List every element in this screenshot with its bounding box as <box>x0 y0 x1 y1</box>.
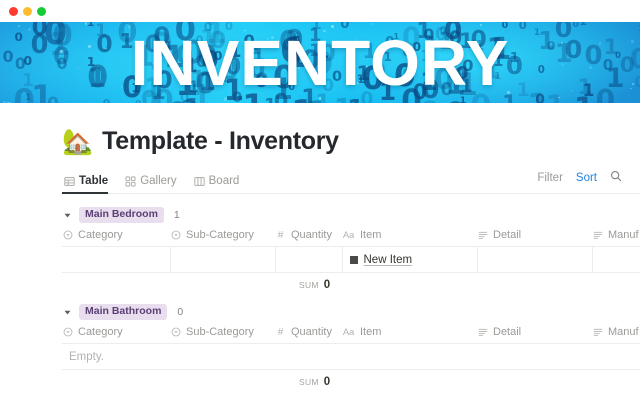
group-list: Main Bedroom 1 CategorySub-Category#Quan… <box>62 207 640 388</box>
column-header-sub-category[interactable]: Sub-Category <box>170 229 275 247</box>
multiline-text-icon <box>477 327 488 337</box>
cell-quantity[interactable] <box>275 247 342 273</box>
empty-label: Empty. <box>62 344 640 370</box>
cell-category[interactable] <box>62 247 170 273</box>
column-header-detail[interactable]: Detail <box>477 326 592 344</box>
window-titlebar <box>0 0 640 22</box>
multiline-text-icon <box>592 327 603 337</box>
light-speck <box>18 25 20 27</box>
group-header[interactable]: Main Bathroom 0 <box>62 304 640 320</box>
text-icon: Aa <box>342 327 355 338</box>
light-speck <box>7 102 10 103</box>
column-header-label: Quantity <box>291 229 332 241</box>
multiline-text-icon <box>477 230 488 240</box>
column-header-detail[interactable]: Detail <box>477 229 592 247</box>
tab-gallery-label: Gallery <box>140 175 176 187</box>
cover-title: INVENTORY <box>0 31 640 95</box>
page-header: 🏡 Template - Inventory <box>62 127 640 156</box>
empty-row: Empty. <box>62 344 640 370</box>
collapse-caret-icon[interactable] <box>62 212 72 219</box>
sum-label: SUM <box>299 280 319 290</box>
cell-manuf[interactable] <box>592 247 640 273</box>
column-header-sub-category[interactable]: Sub-Category <box>170 326 275 344</box>
table-header-row: CategorySub-Category#QuantityAaItemDetai… <box>62 326 640 344</box>
view-tabs: Table Gallery <box>62 175 254 193</box>
board-icon <box>194 176 205 187</box>
column-header-quantity[interactable]: #Quantity <box>275 326 342 344</box>
sum-value: 0 <box>324 279 330 291</box>
group-table: CategorySub-Category#QuantityAaItemDetai… <box>62 229 640 273</box>
text-icon: Aa <box>342 230 355 241</box>
number-icon: # <box>275 327 286 338</box>
tab-board-label: Board <box>209 175 240 187</box>
column-header-category[interactable]: Category <box>62 326 170 344</box>
column-header-label: Manuf <box>608 229 639 241</box>
filter-button[interactable]: Filter <box>537 172 563 184</box>
column-header-item[interactable]: AaItem <box>342 229 477 247</box>
column-header-quantity[interactable]: #Quantity <box>275 229 342 247</box>
table-body: New Item <box>62 247 640 273</box>
sum-row[interactable]: SUM 0 <box>62 376 640 388</box>
sum-label: SUM <box>299 377 319 387</box>
window-minimize-button[interactable] <box>23 7 32 16</box>
column-header-category[interactable]: Category <box>62 229 170 247</box>
view-toolbar: Table Gallery <box>62 169 640 194</box>
column-header-item[interactable]: AaItem <box>342 326 477 344</box>
table-group: Main Bedroom 1 CategorySub-Category#Quan… <box>62 207 640 291</box>
column-header-label: Category <box>78 229 123 241</box>
select-icon <box>170 230 181 240</box>
group-count: 0 <box>177 306 183 318</box>
select-icon <box>62 327 73 337</box>
item-link[interactable]: New Item <box>364 254 413 266</box>
collapse-caret-icon[interactable] <box>62 309 72 316</box>
column-header-label: Sub-Category <box>186 326 254 338</box>
group-header[interactable]: Main Bedroom 1 <box>62 207 640 223</box>
table-row[interactable]: New Item <box>62 247 640 273</box>
tab-gallery[interactable]: Gallery <box>123 175 183 193</box>
binary-digit: 1 <box>25 94 31 103</box>
page-icon-emoji[interactable]: 🏡 <box>62 129 93 154</box>
table-header-row: CategorySub-Category#QuantityAaItemDetai… <box>62 229 640 247</box>
column-header-label: Detail <box>493 326 521 338</box>
binary-digit: 0 <box>103 99 111 103</box>
column-header-label: Item <box>360 229 381 241</box>
tab-table[interactable]: Table <box>62 175 115 193</box>
sum-value: 0 <box>324 376 330 388</box>
binary-digit: 0 <box>573 22 579 30</box>
table-icon <box>64 176 75 187</box>
column-header-label: Sub-Category <box>186 229 254 241</box>
multiline-text-icon <box>592 230 603 240</box>
cell-sub-category[interactable] <box>170 247 275 273</box>
cover-banner[interactable]: 1010010101001010001001100100011000000001… <box>0 22 640 103</box>
binary-digit: 0 <box>535 94 545 103</box>
column-header-manuf[interactable]: Manuf <box>592 229 640 247</box>
select-icon <box>170 327 181 337</box>
search-icon[interactable] <box>610 169 622 187</box>
column-header-manuf[interactable]: Manuf <box>592 326 640 344</box>
select-icon <box>62 230 73 240</box>
page-content: 🏡 Template - Inventory Table <box>0 127 640 388</box>
view-toolbar-actions: Filter Sort <box>537 169 622 193</box>
binary-digit: 1 <box>87 22 94 28</box>
cell-item[interactable]: New Item <box>342 247 477 273</box>
light-speck <box>3 101 5 103</box>
group-name-badge[interactable]: Main Bathroom <box>79 304 167 320</box>
cell-detail[interactable] <box>477 247 592 273</box>
light-speck <box>371 23 374 26</box>
tab-table-label: Table <box>79 175 108 187</box>
binary-digit: 0 <box>135 100 142 103</box>
table-group: Main Bathroom 0 CategorySub-Category#Qua… <box>62 304 640 388</box>
group-name-badge[interactable]: Main Bedroom <box>79 207 164 223</box>
binary-digit: 1 <box>579 22 587 28</box>
page-icon <box>350 256 358 264</box>
sort-button[interactable]: Sort <box>576 172 597 184</box>
window-zoom-button[interactable] <box>37 7 46 16</box>
column-header-label: Item <box>360 326 381 338</box>
number-icon: # <box>275 230 286 241</box>
group-count: 1 <box>174 209 180 221</box>
column-header-label: Quantity <box>291 326 332 338</box>
gallery-icon <box>125 176 136 187</box>
column-header-label: Category <box>78 326 123 338</box>
tab-board[interactable]: Board <box>192 175 247 193</box>
group-table: CategorySub-Category#QuantityAaItemDetai… <box>62 326 640 370</box>
table-body: Empty. <box>62 344 640 370</box>
page-title[interactable]: Template - Inventory <box>102 127 339 156</box>
window-close-button[interactable] <box>9 7 18 16</box>
column-header-label: Manuf <box>608 326 639 338</box>
column-header-label: Detail <box>493 229 521 241</box>
sum-row[interactable]: SUM 0 <box>62 279 640 291</box>
